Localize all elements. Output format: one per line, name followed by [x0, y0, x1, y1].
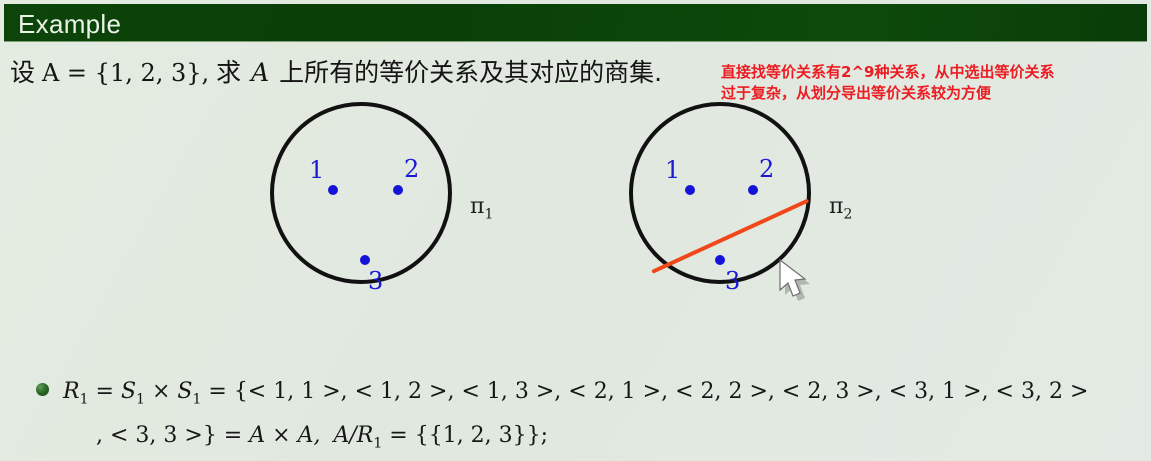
cross-product-symbol: ×: [152, 379, 170, 404]
element-label-2: 2: [404, 157, 419, 181]
set-A-right: A,: [298, 423, 321, 448]
cross-product-symbol-2: ×: [272, 423, 290, 448]
partition-diagram-pi2: 1 2 3 π2: [629, 102, 889, 302]
formula-line-1: R1 = S1 × S1 = {< 1, 1 >, < 1, 2 >, < 1,…: [63, 374, 1088, 417]
element-dot-1: [685, 185, 695, 195]
pi-subscript-2: 2: [843, 206, 852, 222]
quotient-symbol: A/R: [333, 423, 373, 448]
pi-subscript-1: 1: [484, 206, 493, 222]
set-S1-left: S1: [121, 379, 145, 404]
ordered-pairs-list: {< 1, 1 >, < 1, 2 >, < 1, 3 >, < 2, 1 >,…: [234, 379, 1089, 404]
element-label-1: 1: [309, 158, 324, 182]
statement-suffix: 上所有的等价关系及其对应的商集.: [279, 58, 662, 87]
set-S1-right: S1: [177, 379, 201, 404]
partition-label-pi2: π2: [829, 194, 852, 222]
problem-statement: 设 A = {1, 2, 3}, 求 A 上所有的等价关系及其对应的商集.: [10, 55, 662, 91]
slide-title-bar: Example: [4, 4, 1147, 42]
statement-middle: 求: [216, 58, 241, 87]
element-dot-2: [393, 185, 403, 195]
relation-R1: R1: [63, 379, 89, 404]
R-symbol: R: [63, 379, 80, 404]
statement-set-definition: A = {1, 2, 3},: [42, 59, 209, 87]
element-dot-2: [748, 185, 758, 195]
ordered-pairs-tail: , < 3, 3 >} =: [96, 423, 242, 448]
annotation-line-1: 直接找等价关系有2^9种关系，从中选出等价关系: [721, 62, 1146, 83]
pi-symbol-1: π: [470, 194, 484, 219]
equals-3: =: [389, 423, 407, 448]
S-subscript-left: 1: [136, 391, 145, 407]
equals-2: =: [208, 379, 226, 404]
element-dot-3: [715, 255, 725, 265]
partition-diagram-pi1: 1 2 3 π1: [270, 102, 530, 302]
quotient-subscript: 1: [373, 435, 382, 451]
element-label-3: 3: [368, 269, 383, 293]
red-annotation: 直接找等价关系有2^9种关系，从中选出等价关系 过于复杂，从划分导出等价关系较为…: [721, 62, 1146, 104]
page-title: Example: [18, 7, 121, 41]
quotient-set: A/R1: [333, 423, 382, 448]
formula-line-2: , < 3, 3 >} = A × A, A/R1 = {{1, 2, 3}};: [96, 418, 548, 461]
S-symbol-right: S: [177, 379, 192, 404]
annotation-line-2: 过于复杂，从划分导出等价关系较为方便: [721, 83, 1146, 104]
bullet-dot-icon: [36, 383, 49, 396]
S-subscript-right: 1: [192, 391, 201, 407]
element-label-3: 3: [725, 269, 740, 293]
pi-symbol-2: π: [829, 194, 843, 219]
quotient-result: {{1, 2, 3}};: [415, 423, 548, 448]
R-subscript: 1: [80, 391, 89, 407]
element-label-2: 2: [759, 157, 774, 181]
element-dot-1: [328, 185, 338, 195]
partition-label-pi1: π1: [470, 194, 493, 222]
mouse-pointer-icon: [778, 258, 824, 306]
statement-variable: A: [248, 58, 272, 87]
element-label-1: 1: [665, 158, 680, 182]
statement-prefix: 设: [10, 58, 35, 87]
set-A-left: A: [249, 423, 265, 448]
equals-1: =: [96, 379, 114, 404]
slide-canvas: Example 设 A = {1, 2, 3}, 求 A 上所有的等价关系及其对…: [0, 0, 1151, 460]
element-dot-3: [360, 255, 370, 265]
S-symbol-left: S: [121, 379, 136, 404]
